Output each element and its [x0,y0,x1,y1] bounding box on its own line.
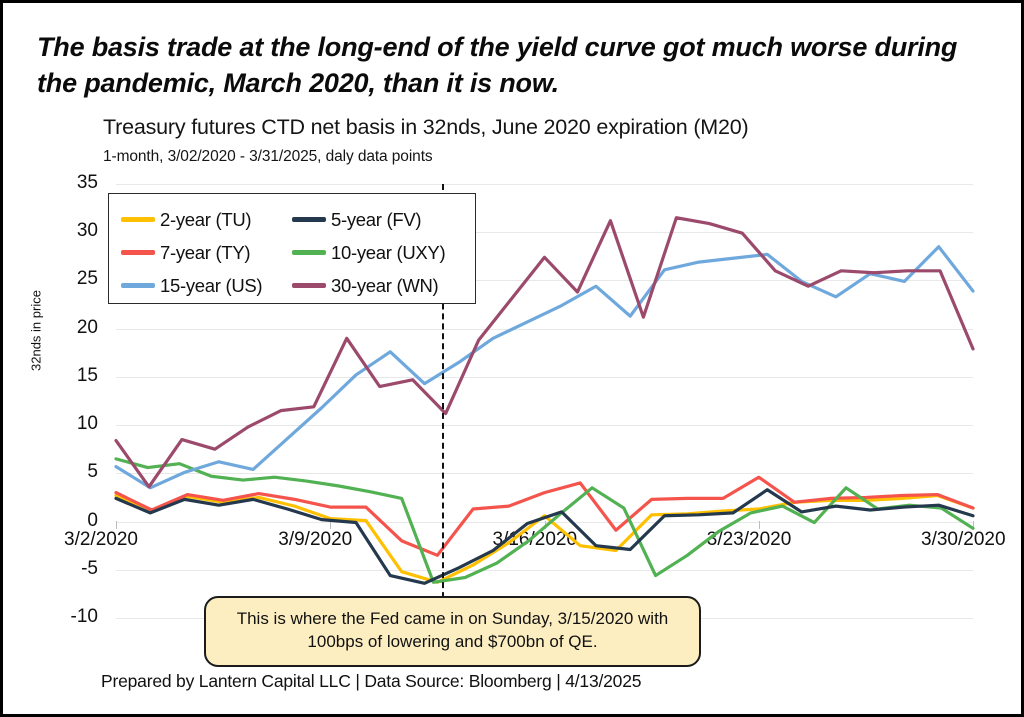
chart-subtitle-secondary: 1-month, 3/02/2020 - 3/31/2025, daly dat… [103,148,433,166]
legend: 2-year (TU) 5-year (FV) 7-year (TY) 10-y… [108,193,476,304]
fed-intervention-callout: This is where the Fed came in on Sunday,… [204,596,701,667]
y-tick-label: 5 [38,461,98,483]
series-line-10-year [116,459,973,582]
legend-item-30-year[interactable]: 30-year (WN) [292,269,463,302]
legend-swatch-icon [121,283,155,288]
y-tick-label: 15 [38,365,98,387]
legend-item-7-year[interactable]: 7-year (TY) [121,236,292,269]
legend-label: 5-year (FV) [331,209,421,231]
y-tick-label: -5 [38,558,98,580]
legend-label: 30-year (WN) [331,275,438,297]
y-tick-label: 30 [38,220,98,242]
legend-row: 7-year (TY) 10-year (UXY) [121,236,463,269]
legend-row: 15-year (US) 30-year (WN) [121,269,463,302]
y-tick-label: 10 [38,413,98,435]
legend-label: 7-year (TY) [160,242,250,264]
legend-label: 15-year (US) [160,275,262,297]
y-tick-label: -10 [38,606,98,628]
legend-swatch-icon [292,217,326,222]
series-line-5-year [116,490,973,584]
footer-attribution: Prepared by Lantern Capital LLC | Data S… [101,671,641,692]
legend-label: 10-year (UXY) [331,242,445,264]
legend-swatch-icon [121,217,155,222]
chart-subtitle: Treasury futures CTD net basis in 32nds,… [103,115,748,140]
y-tick-label: 25 [38,268,98,290]
legend-swatch-icon [292,250,326,255]
chart-figure: The basis trade at the long-end of the y… [0,0,1024,717]
legend-item-2-year[interactable]: 2-year (TU) [121,203,292,236]
legend-label: 2-year (TU) [160,209,251,231]
legend-item-5-year[interactable]: 5-year (FV) [292,203,463,236]
y-tick-label: 35 [38,172,98,194]
legend-swatch-icon [292,283,326,288]
legend-row: 2-year (TU) 5-year (FV) [121,203,463,236]
legend-swatch-icon [121,250,155,255]
legend-item-15-year[interactable]: 15-year (US) [121,269,292,302]
y-tick-label: 20 [38,317,98,339]
legend-item-10-year[interactable]: 10-year (UXY) [292,236,463,269]
headline-title: The basis trade at the long-end of the y… [37,29,977,102]
